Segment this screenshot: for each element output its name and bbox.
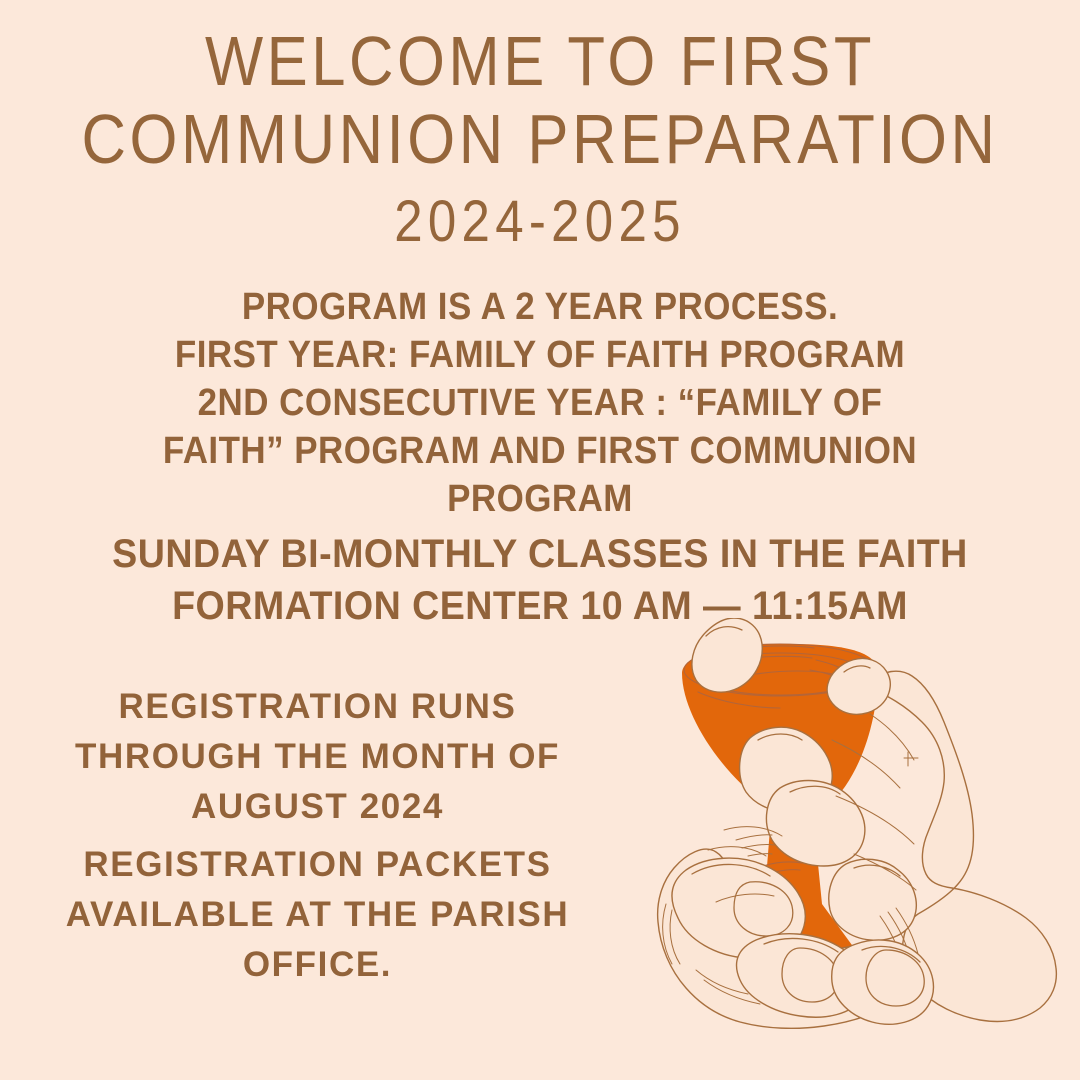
program-description-line-3: 2ND CONSECUTIVE YEAR : “FAMILY OF <box>43 379 1037 427</box>
program-description-block: PROGRAM IS A 2 YEAR PROCESS. FIRST YEAR:… <box>0 283 1080 523</box>
registration-runs-line-1: REGISTRATION RUNS <box>0 682 635 732</box>
registration-runs-line-2: THROUGH THE MONTH OF <box>0 732 635 782</box>
title-line-1: WELCOME TO FIRST <box>65 22 1015 100</box>
program-description-line-5: PROGRAM <box>43 475 1037 523</box>
poster-canvas: WELCOME TO FIRST COMMUNION PREPARATION 2… <box>0 0 1080 1080</box>
registration-packets-line-2: AVAILABLE AT THE PARISH <box>0 890 635 940</box>
title-year-range: 2024-2025 <box>65 186 1015 258</box>
registration-runs-line-3: AUGUST 2024 <box>0 782 635 832</box>
registration-packets-line-1: REGISTRATION PACKETS <box>0 840 635 890</box>
title-line-2: COMMUNION PREPARATION <box>65 100 1015 178</box>
poster-title: WELCOME TO FIRST COMMUNION PREPARATION 2… <box>0 22 1080 258</box>
program-description-line-1: PROGRAM IS A 2 YEAR PROCESS. <box>43 283 1037 331</box>
registration-packets-line-3: OFFICE. <box>0 940 635 990</box>
registration-runs-block: REGISTRATION RUNS THROUGH THE MONTH OF A… <box>0 682 635 832</box>
schedule-line-1: SUNDAY BI-MONTHLY CLASSES IN THE FAITH <box>32 528 1047 580</box>
program-description-line-2: FIRST YEAR: FAMILY OF FAITH PROGRAM <box>43 331 1037 379</box>
program-description-line-4: FAITH” PROGRAM AND FIRST COMMUNION <box>43 427 1037 475</box>
hands-holding-chalice-icon: .hand { fill: #FBE6D6; stroke: #A8703F; … <box>600 618 1080 1080</box>
registration-packets-block: REGISTRATION PACKETS AVAILABLE AT THE PA… <box>0 840 635 990</box>
schedule-block: SUNDAY BI-MONTHLY CLASSES IN THE FAITH F… <box>0 528 1080 632</box>
